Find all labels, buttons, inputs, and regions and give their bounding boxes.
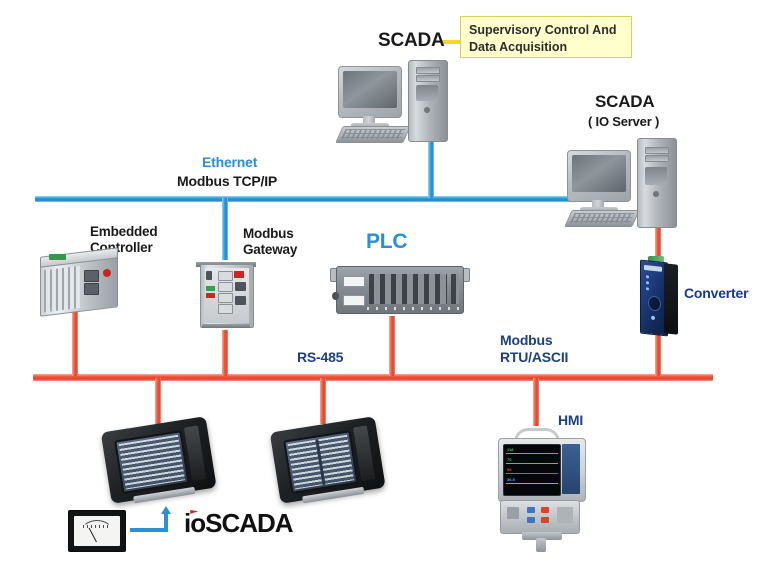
hmi-waveform <box>506 463 558 464</box>
plc-terminal-dots <box>367 307 459 310</box>
panel-display <box>283 430 359 494</box>
hmi-monitor[interactable]: 118 76 98 36.5 <box>496 428 588 556</box>
serial-drop-panel-left <box>155 378 161 424</box>
converter-led <box>646 275 649 278</box>
plc-module-slots <box>369 274 447 304</box>
hmi-readout-value: 118 <box>507 447 513 452</box>
controller-status-led <box>103 269 111 277</box>
serial-drop-embedded-controller <box>72 308 78 376</box>
label-ethernet: Ethernet <box>202 154 257 171</box>
converter-label <box>644 265 662 272</box>
label-rs485: RS-485 <box>297 349 343 366</box>
monitor-bezel <box>567 150 631 202</box>
modbus-gateway[interactable] <box>196 258 256 332</box>
gateway-alarm-led <box>206 293 215 298</box>
tower-front-panel <box>416 85 438 101</box>
hmi-waveform <box>506 483 558 484</box>
hmi-control-base <box>500 500 580 534</box>
hmi-button[interactable] <box>507 507 519 519</box>
hmi-bezel: 118 76 98 36.5 <box>498 438 586 502</box>
plc-module-slot-end <box>451 274 459 304</box>
converter-led <box>646 281 649 284</box>
tower-drive-bay <box>416 75 440 82</box>
monitor-screen <box>343 71 397 108</box>
label-hmi: HMI <box>558 412 583 429</box>
tower-drive-bay <box>416 67 440 74</box>
gateway-serial-port <box>218 293 233 303</box>
serial-drop-converter <box>655 332 661 376</box>
tower-power-button[interactable] <box>424 107 430 113</box>
label-scada-top: SCADA <box>378 30 445 52</box>
label-scada-io-server-sub: ( IO Server ) <box>588 114 659 129</box>
converter-led <box>646 287 649 290</box>
operator-panel-left[interactable] <box>101 416 218 508</box>
gateway-power-led <box>206 286 215 291</box>
ioscada-logo: ioSCADA <box>184 508 293 539</box>
tower-drive-bay <box>645 155 669 162</box>
meter-arrow-shaft <box>130 528 168 532</box>
gateway-serial-port <box>218 282 233 292</box>
keyboard <box>564 210 640 227</box>
panel-housing <box>101 416 217 504</box>
hmi-readout-value: 76 <box>507 457 511 462</box>
label-modbus-tcpip: Modbus TCP/IP <box>177 173 277 190</box>
controller-chassis <box>40 257 118 317</box>
meter-face <box>74 516 120 546</box>
hmi-button[interactable] <box>527 517 535 523</box>
hmi-waveform <box>506 453 558 454</box>
plc-label-lower <box>343 295 365 306</box>
monitor-screen <box>572 155 626 192</box>
hmi-side-keypad[interactable] <box>562 444 580 494</box>
hmi-waveform <box>506 473 558 474</box>
hmi-button[interactable] <box>541 507 549 513</box>
keyboard-keys <box>341 129 405 139</box>
monitor-bezel <box>338 66 402 118</box>
controller-port <box>84 270 99 282</box>
keyboard-keys <box>570 213 634 223</box>
gateway-link-led <box>234 271 244 278</box>
meter-arrow-riser <box>164 514 168 532</box>
serial-drop-gateway <box>222 330 228 376</box>
controller-terminal-block <box>49 254 66 260</box>
keyboard <box>335 126 411 143</box>
plc-chassis <box>336 266 464 314</box>
serial-drop-plc <box>389 316 395 376</box>
operator-panel-right[interactable] <box>270 416 387 508</box>
meter-arc <box>81 520 113 544</box>
analog-meter-icon <box>68 510 126 552</box>
media-converter[interactable] <box>638 256 680 336</box>
scada-definition-callout: Supervisory Control And Data Acquisition <box>460 16 632 58</box>
gateway-dip-switch <box>206 271 212 280</box>
meter-scale-ticks <box>83 525 110 528</box>
hmi-readout-value: 36.5 <box>507 477 515 482</box>
plc-side-connector <box>332 292 339 300</box>
label-scada-io-server: SCADA <box>595 92 654 112</box>
label-converter: Converter <box>684 285 748 302</box>
panel-display <box>114 430 190 494</box>
gateway-bottom-rail <box>202 324 250 328</box>
serial-drop-hmi <box>533 378 539 426</box>
hmi-button[interactable] <box>527 507 535 513</box>
ethernet-bus <box>35 196 605 202</box>
diagram-canvas: Supervisory Control And Data Acquisition… <box>0 0 773 570</box>
label-modbus-rtu-ascii: Modbus RTU/ASCII <box>500 332 568 365</box>
tower-front-panel <box>645 167 667 185</box>
panel-housing <box>270 416 386 504</box>
scada-workstation[interactable] <box>333 60 461 144</box>
panel-display-content <box>119 435 185 490</box>
hmi-button[interactable] <box>541 517 549 523</box>
hmi-button[interactable] <box>557 507 573 523</box>
tower-drive-bay <box>645 147 669 154</box>
logo-o: o <box>190 508 205 538</box>
hmi-readout-value: 98 <box>507 467 511 472</box>
gateway-ethernet-port <box>218 271 233 281</box>
gateway-connector <box>235 282 246 291</box>
controller-port <box>84 283 99 295</box>
hmi-stand-leg <box>536 538 546 552</box>
gateway-serial-port <box>218 304 233 314</box>
plc-rack[interactable] <box>330 262 468 318</box>
logo-scada: SCADA <box>205 508 292 538</box>
label-modbus-gateway: Modbus Gateway <box>243 226 297 258</box>
embedded-controller[interactable] <box>32 252 124 314</box>
converter-led <box>651 316 655 320</box>
computer-tower <box>637 138 677 228</box>
tower-power-button[interactable] <box>653 191 659 197</box>
label-plc: PLC <box>366 230 407 255</box>
computer-tower <box>408 60 448 142</box>
gateway-connector <box>235 296 246 305</box>
converter-side-panel <box>664 263 678 334</box>
ethernet-drop-gateway <box>222 198 228 260</box>
meter-arrow-head <box>161 506 171 514</box>
scada-io-server[interactable] <box>562 138 690 222</box>
hmi-display: 118 76 98 36.5 <box>503 444 561 496</box>
serial-drop-panel-right <box>320 378 326 424</box>
serial-bus <box>33 374 713 381</box>
controller-heatsink-fins <box>44 266 80 312</box>
ethernet-drop-scada-workstation <box>428 140 434 198</box>
plc-label-upper <box>343 276 365 287</box>
converter-rotary-switch[interactable] <box>648 295 661 311</box>
